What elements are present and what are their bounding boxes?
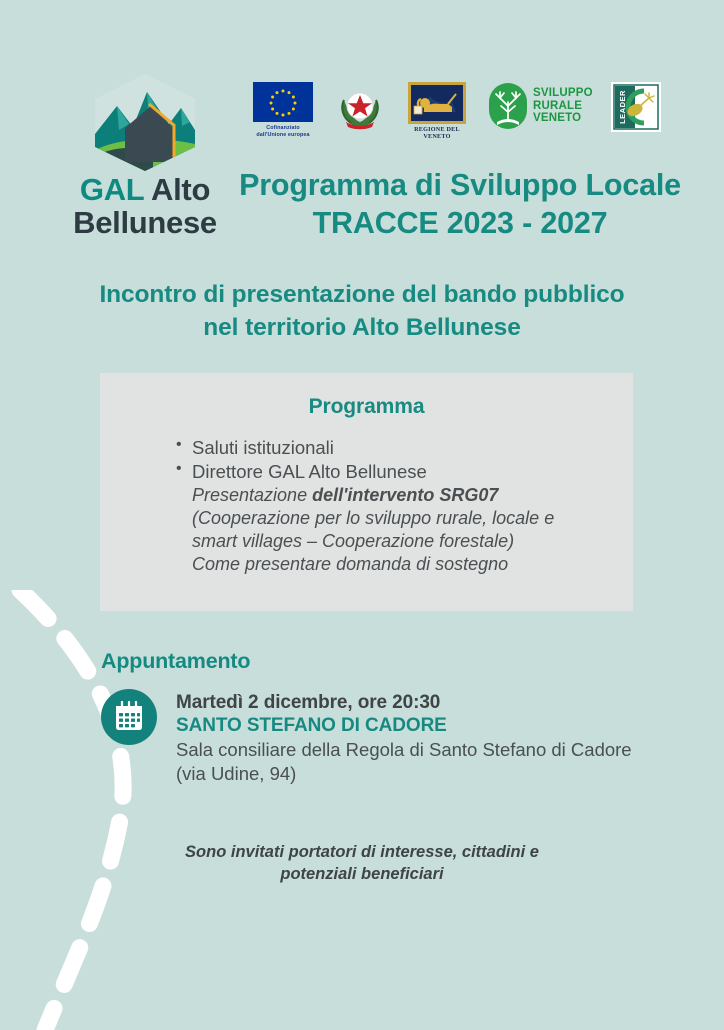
detail-line2: (Cooperazione per lo sviluppo rurale, lo… — [192, 507, 633, 530]
detail-lead: Presentazione — [192, 485, 312, 505]
page-title: Programma di Sviluppo Locale TRACCE 2023… — [210, 166, 710, 242]
gal-alto-bellunese-logo: GAL Alto Bellunese — [70, 72, 220, 239]
veneto-caption: REGIONE DEL VENETO — [404, 126, 470, 140]
calendar-icon-badge — [101, 689, 157, 745]
gal-wordmark-gal: GAL — [80, 172, 144, 207]
eu-caption-line2: dall'Unione europea — [250, 132, 316, 139]
invitation-note: Sono invitati portatori di interesse, ci… — [112, 842, 612, 886]
programma-list: Saluti istituzionali Direttore GAL Alto … — [100, 436, 633, 576]
european-union-flag — [253, 82, 313, 122]
detail-line4: Come presentare domanda di sostegno — [192, 553, 633, 576]
eu-caption: Cofinanziato dall'Unione europea — [250, 125, 316, 139]
detail-line1: Presentazione dell'intervento SRG07 — [192, 484, 633, 507]
leader-label: LEADER — [618, 90, 627, 124]
italian-republic-emblem — [334, 82, 386, 134]
invitation-line1: Sono invitati portatori di interesse, ci… — [112, 842, 612, 864]
event-venue-line2: (via Udine, 94) — [176, 762, 632, 785]
page-subtitle: Incontro di presentazione del bando pubb… — [62, 278, 662, 344]
invitation-line2: potenziali beneficiari — [112, 864, 612, 886]
regione-veneto-logo: REGIONE DEL VENETO — [404, 82, 470, 140]
gal-wordmark-bellunese: Bellunese — [70, 207, 220, 240]
svr-line3: VENETO — [533, 112, 593, 125]
event-location: SANTO STEFANO DI CADORE — [176, 714, 632, 737]
title-line2: TRACCE 2023 - 2027 — [210, 204, 710, 242]
programma-detail: Presentazione dell'intervento SRG07 (Coo… — [192, 484, 633, 575]
gal-wordmark-alto: Alto — [144, 172, 210, 207]
leader-logo: LEADER — [611, 82, 661, 132]
list-item: Saluti istituzionali — [176, 436, 633, 460]
institutional-logo-row: Cofinanziato dall'Unione europea — [250, 82, 661, 140]
programma-panel: Programma Saluti istituzionali Direttore… — [100, 373, 633, 611]
svr-line2: RURALE — [533, 100, 593, 113]
event-text-block: Martedì 2 dicembre, ore 20:30 SANTO STEF… — [176, 689, 632, 786]
sviluppo-rurale-veneto-tree-logo — [488, 82, 528, 130]
sviluppo-rurale-veneto-text: SVILUPPO RURALE VENETO — [533, 87, 593, 126]
detail-line3: smart villages – Cooperazione forestale) — [192, 530, 633, 553]
event-date: Martedì 2 dicembre, ore 20:30 — [176, 691, 632, 714]
gal-hexagon-mountain-house-logo — [89, 72, 201, 172]
svr-line1: SVILUPPO — [533, 87, 593, 100]
title-line1: Programma di Sviluppo Locale — [210, 166, 710, 204]
sviluppo-rurale-veneto-logo: SVILUPPO RURALE VENETO — [488, 82, 593, 130]
subtitle-line2: nel territorio Alto Bellunese — [62, 311, 662, 344]
eu-caption-line1: Cofinanziato — [250, 125, 316, 132]
appuntamento-heading: Appuntamento — [101, 649, 250, 674]
list-item: Direttore GAL Alto Bellunese Presentazio… — [176, 460, 633, 576]
regione-veneto-lion-crest — [408, 82, 466, 124]
event-details: Martedì 2 dicembre, ore 20:30 SANTO STEF… — [101, 689, 632, 786]
gal-wordmark: GAL Alto Bellunese — [70, 174, 220, 239]
programma-heading: Programma — [100, 395, 633, 419]
detail-strong: dell'intervento SRG07 — [312, 485, 498, 505]
event-venue-line1: Sala consiliare della Regola di Santo St… — [176, 738, 632, 761]
subtitle-line1: Incontro di presentazione del bando pubb… — [62, 278, 662, 311]
eu-logo: Cofinanziato dall'Unione europea — [250, 82, 316, 139]
calendar-icon — [114, 701, 144, 733]
list-item-label: Direttore GAL Alto Bellunese — [192, 461, 427, 482]
